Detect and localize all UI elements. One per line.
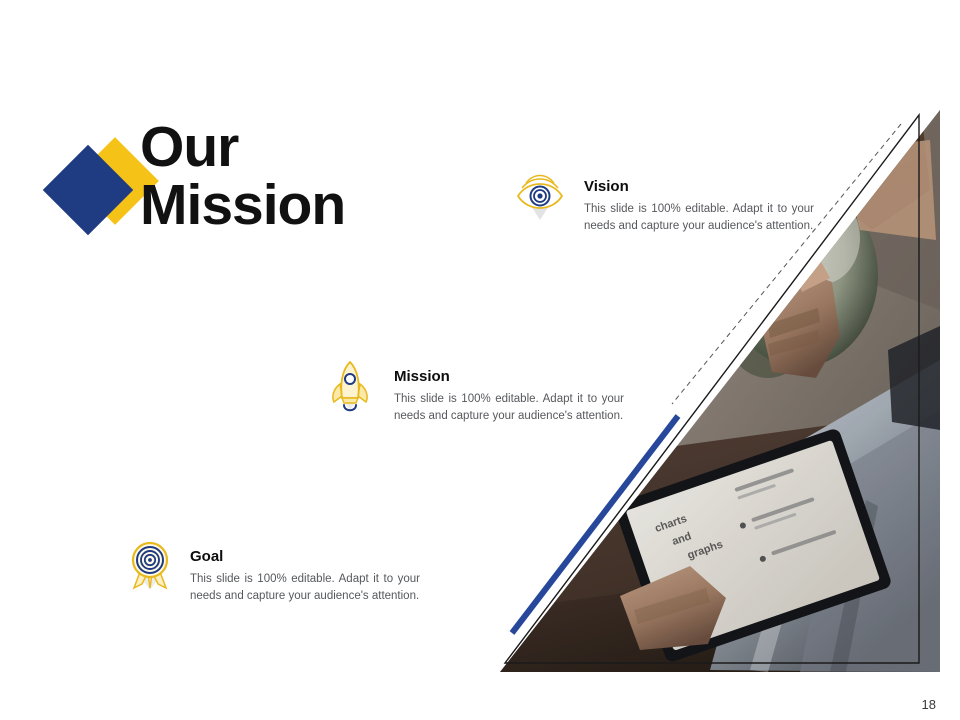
eye-icon — [512, 168, 568, 224]
vision-description: This slide is 100% editable. Adapt it to… — [584, 201, 814, 234]
svg-text:and: and — [671, 530, 693, 548]
mission-text-block: Mission This slide is 100% editable. Ada… — [394, 368, 624, 424]
goal-title: Goal — [190, 548, 420, 565]
slide-canvas: charts and graphs — [0, 0, 960, 720]
triangle-frame — [0, 0, 960, 720]
svg-text:charts: charts — [653, 513, 688, 535]
dashed-accent-line — [672, 124, 901, 404]
title-text: Our Mission — [140, 118, 470, 234]
award-target-icon — [122, 538, 178, 594]
vision-text-block: Vision This slide is 100% editable. Adap… — [584, 178, 814, 234]
page-title: Our Mission — [48, 118, 468, 248]
page-number: 18 — [922, 697, 936, 712]
blue-accent-line — [512, 416, 678, 633]
svg-text:graphs: graphs — [686, 538, 725, 561]
mission-description: This slide is 100% editable. Adapt it to… — [394, 391, 624, 424]
rocket-icon — [322, 358, 378, 414]
goal-description: This slide is 100% editable. Adapt it to… — [190, 571, 420, 604]
goal-text-block: Goal This slide is 100% editable. Adapt … — [190, 548, 420, 604]
vision-title: Vision — [584, 178, 814, 195]
title-line-2: Mission — [140, 176, 470, 234]
photo-composition: charts and graphs — [0, 0, 960, 720]
mission-title: Mission — [394, 368, 624, 385]
title-line-1: Our — [140, 118, 470, 176]
